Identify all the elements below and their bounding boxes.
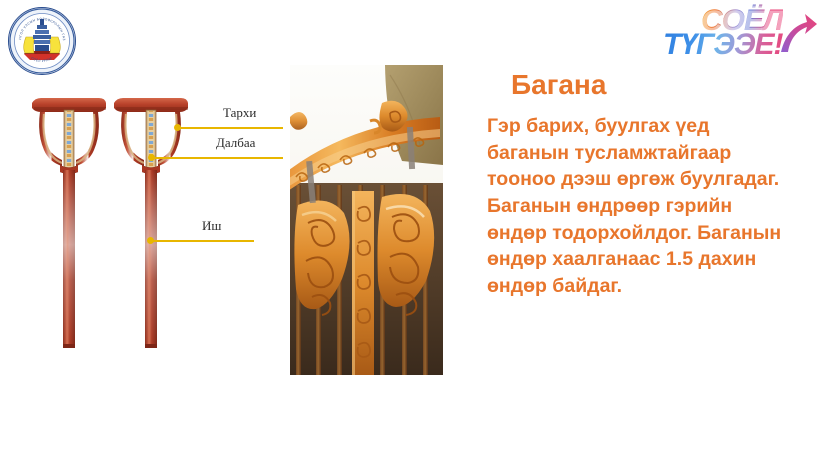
leader-line-tarkhi <box>178 127 283 129</box>
page-title: Багана <box>511 70 792 101</box>
campaign-logo: СОЁЛ ТҮГЭЭЕ! <box>659 4 819 66</box>
leader-line-ish <box>151 240 254 242</box>
bagana-column-diagram: Тархи Далбаа Иш <box>30 95 280 370</box>
column-left <box>32 98 106 348</box>
photo-content <box>290 65 443 375</box>
organization-logo: МОНГОЛ УЛСЫН БОЛОВСРОЛЫН ГАЗАР СОЁЛ УРЛА… <box>8 7 76 75</box>
campaign-logo-line2: ТҮГЭЭЕ! <box>663 28 783 62</box>
slide-canvas: МОНГОЛ УЛСЫН БОЛОВСРОЛЫН ГАЗАР СОЁЛ УРЛА… <box>0 0 825 464</box>
logo-emblem-icon: МОНГОЛ УЛСЫН БОЛОВСРОЛЫН ГАЗАР СОЁЛ УРЛА… <box>8 7 76 75</box>
up-right-arrow-icon <box>777 10 817 54</box>
label-tarkhi: Тархи <box>223 105 256 121</box>
label-dalbaa: Далбаа <box>216 135 255 151</box>
column-right <box>114 98 188 348</box>
body-paragraph: Гэр барих, буулгах үед баганын тусламжта… <box>487 113 792 300</box>
text-panel: Багана Гэр барих, буулгах үед баганын ту… <box>487 70 792 300</box>
carved-wooden-yurt-column-photo <box>290 65 443 375</box>
leader-line-dalbaa <box>152 157 283 159</box>
label-ish: Иш <box>202 218 221 234</box>
